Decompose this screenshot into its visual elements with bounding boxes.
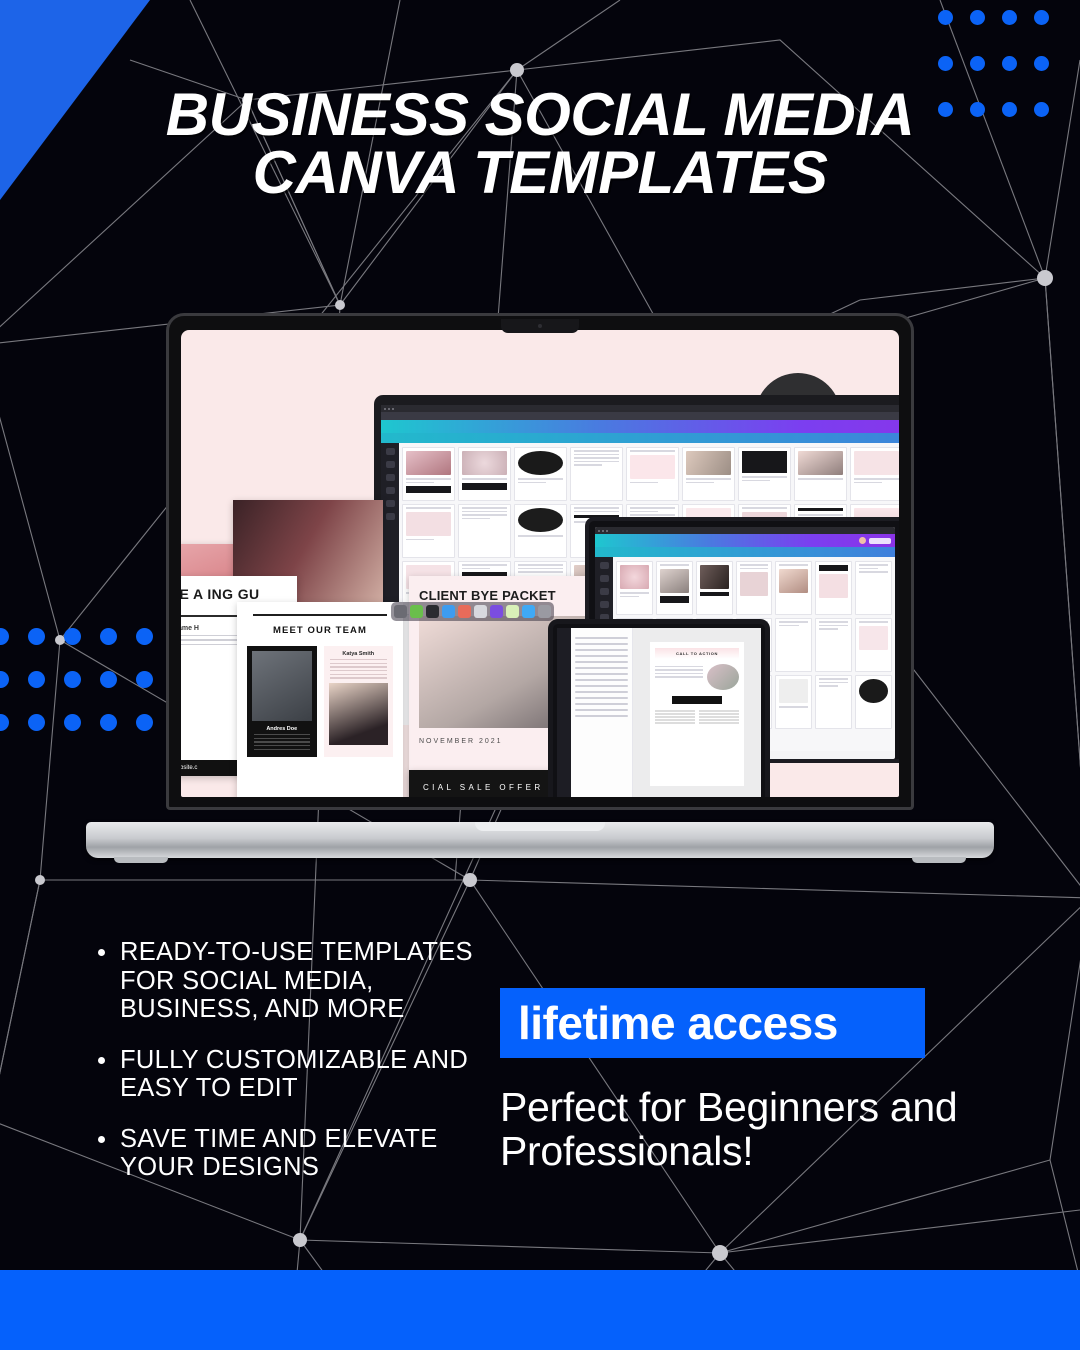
- lifetime-access-badge: lifetime access: [500, 988, 925, 1058]
- cta-page-title: CALL TO ACTION: [655, 648, 740, 659]
- feature-item: SAVE TIME AND ELEVATE YOUR DESIGNS: [88, 1125, 508, 1182]
- template-card[interactable]: [855, 618, 892, 672]
- template-card[interactable]: [736, 561, 773, 615]
- template-card[interactable]: [855, 561, 892, 615]
- team-members: Andres Doe Katya Smith: [247, 646, 393, 758]
- cta-columns: [655, 709, 740, 726]
- cta-page: CALL TO ACTION: [650, 642, 745, 786]
- tablet-canvas: CALL TO ACTION: [633, 628, 761, 797]
- dock-icon-notes[interactable]: [474, 605, 487, 618]
- dock-icon-photos[interactable]: [458, 605, 471, 618]
- cta-content-row: [655, 664, 740, 690]
- dock-icon-maps[interactable]: [506, 605, 519, 618]
- dock-icon-music[interactable]: [490, 605, 503, 618]
- template-card[interactable]: [616, 561, 653, 615]
- webcam-notch: [501, 319, 579, 333]
- divider: [253, 614, 387, 616]
- template-card[interactable]: [775, 618, 812, 672]
- member-bio: [329, 659, 389, 679]
- template-card[interactable]: [815, 675, 852, 729]
- tablet-layers-panel: [571, 628, 633, 797]
- member-bio: [252, 734, 312, 750]
- macos-dock: [391, 602, 554, 621]
- laptop-foot-left: [114, 857, 168, 863]
- bottom-accent-bar: [0, 1270, 1080, 1350]
- poster: BUSINESS SOCIAL MEDIA CANVA TEMPLATES Ca…: [0, 0, 1080, 1350]
- feature-list: READY-TO-USE TEMPLATES FOR SOCIAL MEDIA,…: [88, 938, 508, 1204]
- dock-icon-mail[interactable]: [442, 605, 455, 618]
- page-title: BUSINESS SOCIAL MEDIA CANVA TEMPLATES: [0, 86, 1080, 202]
- canva-toolbar: [595, 534, 895, 547]
- cta-image: [707, 664, 739, 690]
- tablet-device: CALL TO ACTION: [548, 619, 770, 797]
- template-card[interactable]: [656, 561, 693, 615]
- share-button: [869, 538, 891, 544]
- laptop-base: [86, 822, 994, 858]
- laptop-lid: Canva: [166, 313, 914, 810]
- title-line-1: BUSINESS SOCIAL MEDIA: [60, 86, 1020, 144]
- meet-our-team-card: MEET OUR TEAM Andres Doe Katya Smith: [237, 602, 403, 797]
- template-card[interactable]: [815, 561, 852, 615]
- template-card[interactable]: [696, 561, 733, 615]
- os-menu-bar: [595, 527, 895, 534]
- member-name-right: Katya Smith: [329, 651, 389, 657]
- dock-icon-terminal[interactable]: [426, 605, 439, 618]
- laptop-screen: Canva: [181, 330, 899, 797]
- dock-icon-settings[interactable]: [538, 605, 551, 618]
- template-card[interactable]: [775, 675, 812, 729]
- template-card[interactable]: [775, 561, 812, 615]
- promo-tagline: Perfect for Beginners and Professionals!: [500, 1085, 1020, 1174]
- dock-icon-messages[interactable]: [410, 605, 423, 618]
- team-member-right: Katya Smith: [324, 646, 394, 758]
- team-card-title: MEET OUR TEAM: [247, 625, 393, 636]
- member-photo: [252, 651, 312, 721]
- tablet-side-rail: [557, 628, 571, 797]
- lifetime-access-label: lifetime access: [518, 996, 838, 1050]
- service-card-headline: VICE A ING GU: [181, 586, 289, 602]
- canva-subtoolbar: [595, 547, 895, 557]
- cta-button[interactable]: [672, 696, 721, 704]
- cta-text-block: [655, 664, 704, 690]
- member-photo: [329, 683, 389, 745]
- title-line-2: CANVA TEMPLATES: [60, 144, 1020, 202]
- dock-icon-finder[interactable]: [394, 605, 407, 618]
- dock-icon-safari[interactable]: [522, 605, 535, 618]
- tablet-screen: CALL TO ACTION: [557, 628, 761, 797]
- feature-item: READY-TO-USE TEMPLATES FOR SOCIAL MEDIA,…: [88, 938, 508, 1024]
- laptop-foot-right: [912, 857, 966, 863]
- feature-item: FULLY CUSTOMIZABLE AND EASY TO EDIT: [88, 1046, 508, 1103]
- template-card[interactable]: [815, 618, 852, 672]
- member-name-left: Andres Doe: [252, 726, 312, 732]
- user-avatar: [859, 537, 866, 544]
- laptop-mockup: Canva: [86, 313, 994, 858]
- team-member-left: Andres Doe: [247, 646, 317, 758]
- template-card[interactable]: [855, 675, 892, 729]
